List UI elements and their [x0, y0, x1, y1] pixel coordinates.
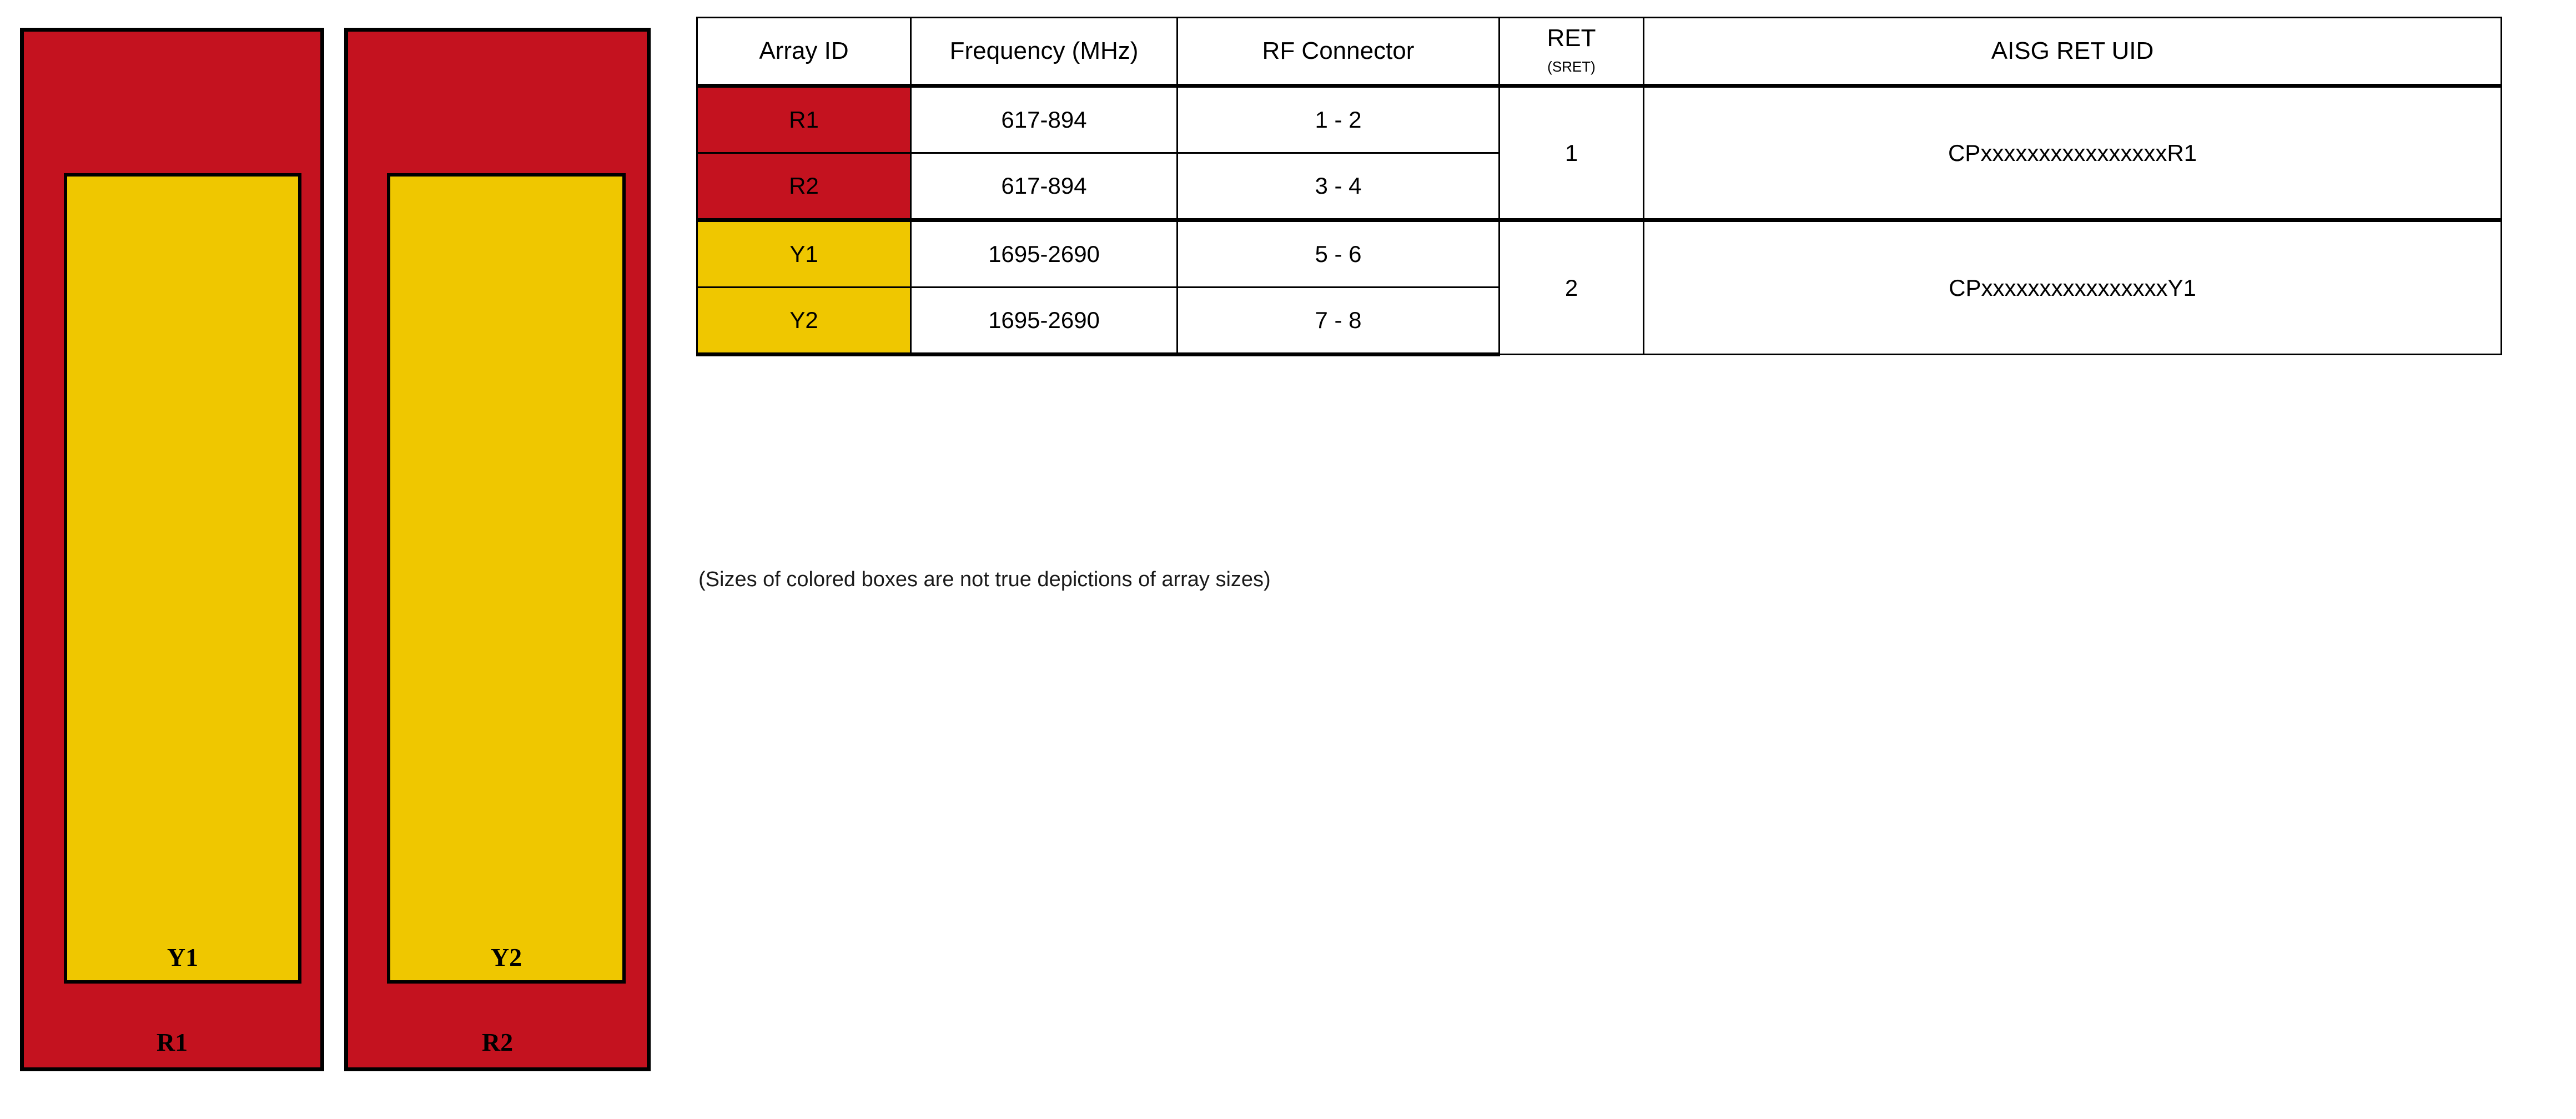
cell-ret: 1 — [1500, 86, 1644, 220]
column-header-ret: RET (SRET) — [1500, 18, 1644, 86]
cell-array-id: Y1 — [697, 220, 911, 288]
ret-configuration-table-block: Array ID Frequency (MHz) RF Connector RE… — [696, 17, 2500, 356]
cell-frequency: 1695-2690 — [911, 288, 1178, 355]
column-header-ret-main: RET — [1500, 26, 1643, 51]
column-header-rf-connector: RF Connector — [1178, 18, 1500, 86]
table-header-row: Array ID Frequency (MHz) RF Connector RE… — [697, 18, 2502, 86]
table-footnote: (Sizes of colored boxes are not true dep… — [698, 568, 1271, 592]
cell-rf-connector: 5 - 6 — [1178, 220, 1500, 288]
table-header: Array ID Frequency (MHz) RF Connector RE… — [697, 18, 2502, 86]
column-header-frequency: Frequency (MHz) — [911, 18, 1178, 86]
array-diagram: Y1 R1 Y2 R2 — [0, 0, 688, 1119]
cell-array-id: R2 — [697, 153, 911, 220]
cell-aisg-ret-uid: CPxxxxxxxxxxxxxxxxR1 — [1644, 86, 2502, 220]
array-inner-label-y1: Y1 — [67, 945, 298, 970]
cell-frequency: 617-894 — [911, 86, 1178, 153]
cell-rf-connector: 3 - 4 — [1178, 153, 1500, 220]
array-inner-y1: Y1 — [64, 173, 301, 984]
column-header-array-id: Array ID — [697, 18, 911, 86]
cell-array-id: R1 — [697, 86, 911, 153]
table-row: Y1 1695-2690 5 - 6 2 CPxxxxxxxxxxxxxxxxY… — [697, 220, 2502, 288]
cell-frequency: 1695-2690 — [911, 220, 1178, 288]
cell-rf-connector: 1 - 2 — [1178, 86, 1500, 153]
cell-aisg-ret-uid: CPxxxxxxxxxxxxxxxxY1 — [1644, 220, 2502, 355]
cell-rf-connector: 7 - 8 — [1178, 288, 1500, 355]
column-header-ret-sub: (SRET) — [1500, 57, 1643, 77]
ret-configuration-table: Array ID Frequency (MHz) RF Connector RE… — [696, 17, 2502, 356]
array-panel-r1: Y1 R1 — [20, 28, 324, 1071]
table-body: R1 617-894 1 - 2 1 CPxxxxxxxxxxxxxxxxR1 … — [697, 86, 2502, 355]
column-header-aisg-ret-uid: AISG RET UID — [1644, 18, 2502, 86]
cell-array-id: Y2 — [697, 288, 911, 355]
cell-frequency: 617-894 — [911, 153, 1178, 220]
array-panel-r2: Y2 R2 — [344, 28, 651, 1071]
table-row: R1 617-894 1 - 2 1 CPxxxxxxxxxxxxxxxxR1 — [697, 86, 2502, 153]
array-inner-label-y2: Y2 — [390, 945, 622, 970]
array-inner-y2: Y2 — [387, 173, 626, 984]
cell-ret: 2 — [1500, 220, 1644, 355]
array-panel-label-r2: R2 — [348, 1030, 647, 1055]
array-panel-label-r1: R1 — [24, 1030, 320, 1055]
